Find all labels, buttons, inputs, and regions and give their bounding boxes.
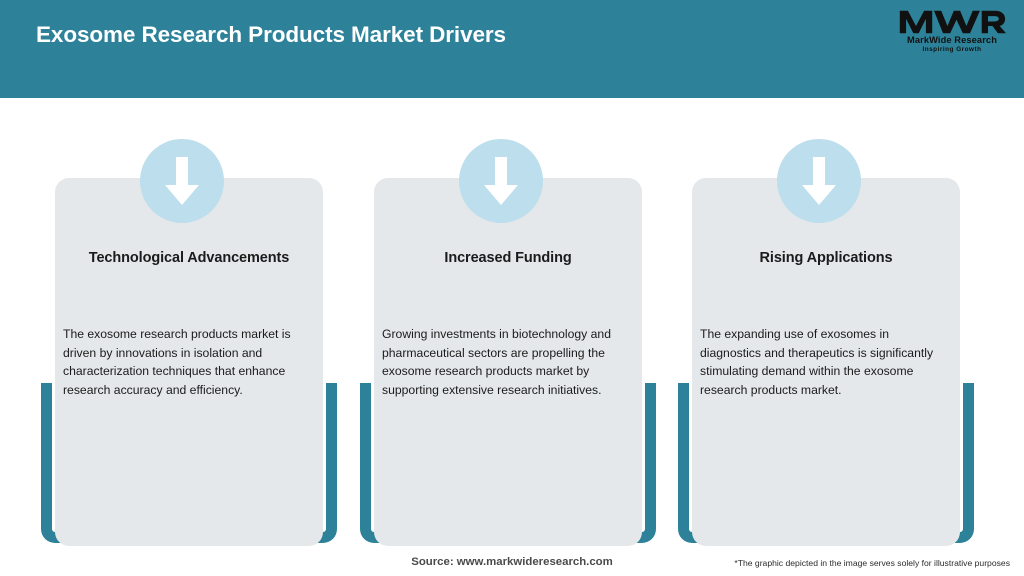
driver-card-3: Rising Applications The expanding use of… xyxy=(678,98,988,548)
card-title: Increased Funding xyxy=(374,250,642,266)
card-title: Technological Advancements xyxy=(55,250,323,266)
brand-logo: MarkWide Research Inspiring Growth xyxy=(898,8,1006,58)
card-title: Rising Applications xyxy=(692,250,960,266)
card-icon-badge xyxy=(140,139,224,223)
card-body-text: The expanding use of exosomes in diagnos… xyxy=(700,325,952,399)
header-bar: Exosome Research Products Market Drivers… xyxy=(0,0,1024,98)
mwr-logo-icon xyxy=(898,8,1006,35)
down-arrow-icon xyxy=(481,155,521,207)
slide-canvas: Exosome Research Products Market Drivers… xyxy=(0,0,1024,576)
disclaimer-note: *The graphic depicted in the image serve… xyxy=(734,558,1010,568)
card-panel: Technological Advancements The exosome r… xyxy=(55,178,323,546)
card-panel: Rising Applications The expanding use of… xyxy=(692,178,960,546)
card-body-text: The exosome research products market is … xyxy=(63,325,315,399)
card-panel: Increased Funding Growing investments in… xyxy=(374,178,642,546)
card-icon-badge xyxy=(459,139,543,223)
logo-tagline: Inspiring Growth xyxy=(898,46,1006,53)
drivers-card-group: Technological Advancements The exosome r… xyxy=(0,98,1024,576)
driver-card-1: Technological Advancements The exosome r… xyxy=(41,98,351,548)
card-icon-badge xyxy=(777,139,861,223)
down-arrow-icon xyxy=(799,155,839,207)
page-title: Exosome Research Products Market Drivers xyxy=(36,22,506,48)
down-arrow-icon xyxy=(162,155,202,207)
driver-card-2: Increased Funding Growing investments in… xyxy=(360,98,670,548)
logo-company-name: MarkWide Research xyxy=(898,35,1006,45)
card-body-text: Growing investments in biotechnology and… xyxy=(382,325,634,399)
